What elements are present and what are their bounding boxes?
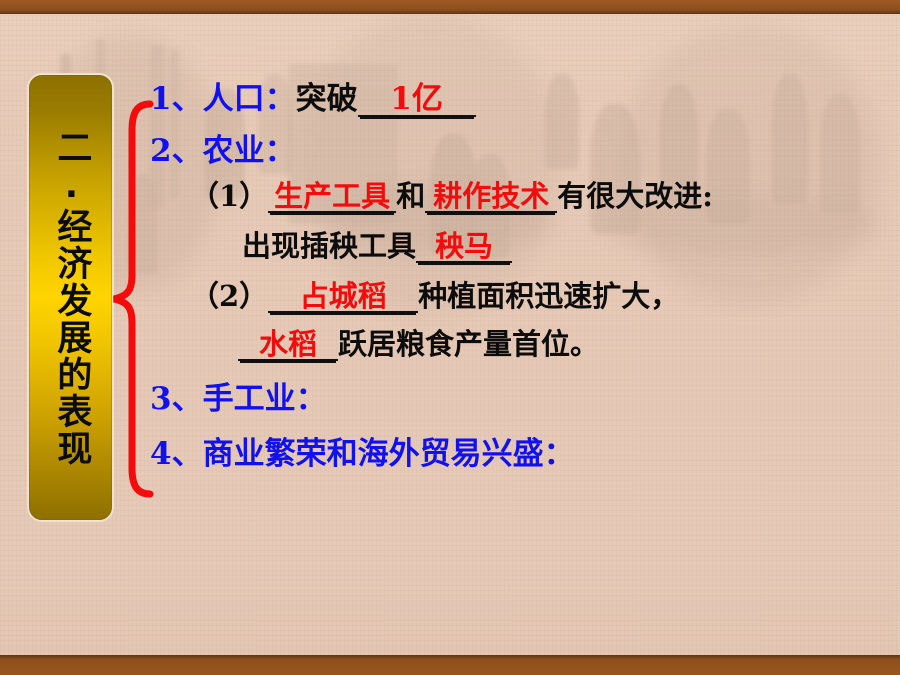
item-2-number: 2、 — [150, 133, 203, 169]
outline-item-3: 3、手工业： — [150, 384, 895, 439]
outline-content: 1、人口：突破1亿 2、农业： （1）生产工具和耕作技术有很大改进: 出现插秧工… — [150, 84, 895, 485]
sub-2-2-blank-a[interactable]: 占城稻 — [268, 282, 418, 313]
sub-2-1-blank-a[interactable]: 生产工具 — [268, 182, 396, 213]
item-2-heading: 农业： — [203, 133, 296, 169]
sub-2-1-mid: 和 — [396, 179, 425, 213]
sub-2-1-answer-a: 生产工具 — [270, 182, 394, 211]
sub-2-2-tail: 种植面积迅速扩大， — [418, 279, 679, 313]
outline-item-1: 1、人口：突破1亿 — [150, 84, 895, 136]
item-1-blank[interactable]: 1亿 — [358, 84, 476, 117]
top-frame-band — [0, 0, 900, 14]
item-4-heading: 商业繁荣和海外贸易兴盛： — [203, 436, 575, 472]
sub-2-2-line2-answer: 水稻 — [255, 330, 321, 359]
sub-2-1-line2-blank[interactable]: 秧马 — [416, 232, 512, 263]
sub-2-2-marker: （2） — [190, 279, 268, 313]
item-1-body: 突破 — [296, 81, 358, 117]
sub-2-2-line2-tail: 跃居粮食产量首位。 — [338, 327, 599, 361]
outline-item-2-sub-2: （2）占城稻种植面积迅速扩大， — [150, 282, 895, 330]
item-3-number: 3、 — [150, 381, 203, 417]
sub-2-2-answer-a: 占城稻 — [296, 282, 391, 311]
sub-2-1-line2-answer: 秧马 — [431, 232, 497, 261]
sub-2-1-answer-b: 耕作技术 — [429, 182, 553, 211]
section-title-plate: 二.经济发展的表现 — [27, 73, 114, 522]
outline-item-4: 4、商业繁荣和海外贸易兴盛： — [150, 439, 895, 485]
bottom-frame-band — [0, 655, 900, 675]
item-1-answer: 1亿 — [386, 84, 447, 115]
item-1-number: 1、 — [150, 81, 203, 117]
outline-item-2-sub-2-line2: 水稻跃居粮食产量首位。 — [150, 330, 895, 384]
sub-2-1-line2-text: 出现插秧工具 — [242, 229, 416, 263]
sub-2-1-marker: （1） — [190, 179, 268, 213]
sub-2-2-line2-blank[interactable]: 水稻 — [238, 330, 338, 361]
sub-2-1-blank-b[interactable]: 耕作技术 — [425, 182, 557, 213]
outline-item-2-sub-1-line2: 出现插秧工具秧马 — [150, 232, 895, 282]
item-3-heading: 手工业： — [203, 381, 327, 417]
sub-2-1-tail: 有很大改进: — [557, 179, 713, 213]
section-title-text: 二.经济发展的表现 — [52, 129, 90, 467]
outline-item-2: 2、农业： — [150, 136, 895, 182]
item-1-heading: 人口： — [203, 81, 296, 117]
outline-item-2-sub-1: （1）生产工具和耕作技术有很大改进: — [150, 182, 895, 232]
item-4-number: 4、 — [150, 436, 203, 472]
slide-canvas: 二.经济发展的表现 1、人口：突破1亿 2、农业： （1）生产工具和耕作技术有很… — [0, 0, 900, 675]
